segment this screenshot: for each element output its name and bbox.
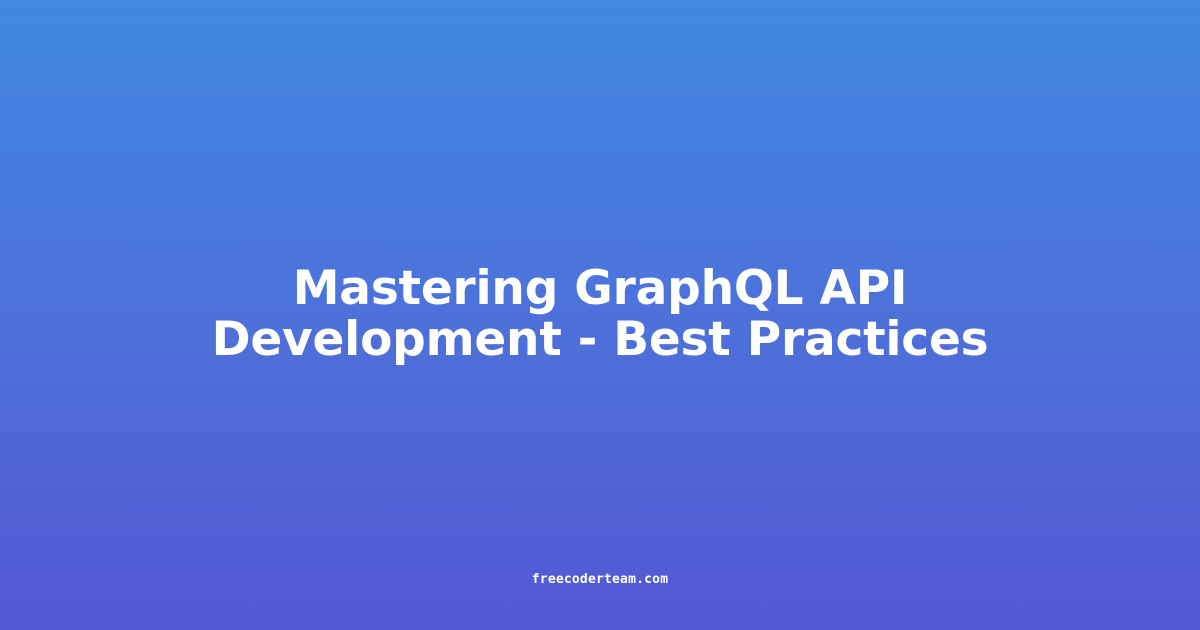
site-domain-label: freecoderteam.com xyxy=(532,573,668,586)
page-title: Mastering GraphQL API Development - Best… xyxy=(120,264,1080,366)
footer-block: freecoderteam.com xyxy=(0,573,1200,586)
og-image-card: Mastering GraphQL API Development - Best… xyxy=(0,0,1200,630)
title-block: Mastering GraphQL API Development - Best… xyxy=(120,264,1080,366)
